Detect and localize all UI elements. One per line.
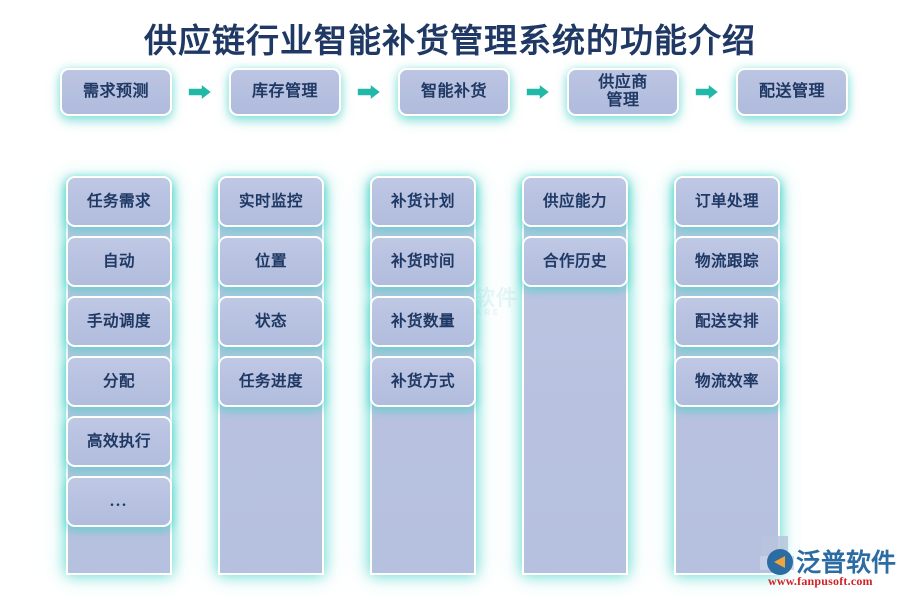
column-item-list: 订单处理物流跟踪配送安排物流效率 xyxy=(668,176,786,416)
feature-item[interactable]: 补货计划 xyxy=(370,176,476,227)
column-item-list: 任务需求自动手动调度分配高效执行... xyxy=(60,176,178,536)
right-arrow-icon xyxy=(694,82,720,102)
right-arrow-icon xyxy=(356,82,382,102)
feature-item[interactable]: 自动 xyxy=(66,236,172,287)
right-arrow-icon xyxy=(525,82,551,102)
column-item-list: 补货计划补货时间补货数量补货方式 xyxy=(364,176,482,416)
process-flow-row: 需求预测库存管理智能补货供应商管理配送管理 xyxy=(60,68,850,120)
feature-item[interactable]: 补货时间 xyxy=(370,236,476,287)
feature-column-5: 订单处理物流跟踪配送安排物流效率 xyxy=(668,176,786,576)
feature-item[interactable]: 高效执行 xyxy=(66,416,172,467)
feature-column-3: 补货计划补货时间补货数量补货方式 xyxy=(364,176,482,576)
feature-item[interactable]: 物流跟踪 xyxy=(674,236,780,287)
flow-step-1[interactable]: 需求预测 xyxy=(60,68,172,116)
feature-columns: 任务需求自动手动调度分配高效执行...实时监控位置状态任务进度补货计划补货时间补… xyxy=(60,176,850,580)
flow-step-4[interactable]: 供应商管理 xyxy=(567,68,679,116)
page-title: 供应链行业智能补货管理系统的功能介绍 xyxy=(0,14,900,62)
feature-item[interactable]: 分配 xyxy=(66,356,172,407)
feature-item[interactable]: 位置 xyxy=(218,236,324,287)
feature-column-2: 实时监控位置状态任务进度 xyxy=(212,176,330,576)
feature-item[interactable]: 任务进度 xyxy=(218,356,324,407)
flow-step-3[interactable]: 智能补货 xyxy=(398,68,510,116)
infographic-canvas: 泛普软件 SOFTWARE 供应链行业智能补货管理系统的功能介绍 需求预测库存管… xyxy=(0,0,900,600)
flow-step-2[interactable]: 库存管理 xyxy=(229,68,341,116)
feature-item[interactable]: 手动调度 xyxy=(66,296,172,347)
feature-item[interactable]: 合作历史 xyxy=(522,236,628,287)
feature-item[interactable]: 物流效率 xyxy=(674,356,780,407)
feature-item[interactable]: 订单处理 xyxy=(674,176,780,227)
right-arrow-icon xyxy=(187,82,213,102)
feature-item[interactable]: 配送安排 xyxy=(674,296,780,347)
feature-item[interactable]: 补货方式 xyxy=(370,356,476,407)
feature-item[interactable]: ... xyxy=(66,476,172,527)
feature-item[interactable]: 补货数量 xyxy=(370,296,476,347)
feature-column-1: 任务需求自动手动调度分配高效执行... xyxy=(60,176,178,576)
feature-item[interactable]: 供应能力 xyxy=(522,176,628,227)
column-item-list: 供应能力合作历史 xyxy=(516,176,634,296)
feature-item[interactable]: 状态 xyxy=(218,296,324,347)
feature-item[interactable]: 实时监控 xyxy=(218,176,324,227)
column-item-list: 实时监控位置状态任务进度 xyxy=(212,176,330,416)
flow-step-5[interactable]: 配送管理 xyxy=(736,68,848,116)
feature-column-4: 供应能力合作历史 xyxy=(516,176,634,576)
feature-item[interactable]: 任务需求 xyxy=(66,176,172,227)
